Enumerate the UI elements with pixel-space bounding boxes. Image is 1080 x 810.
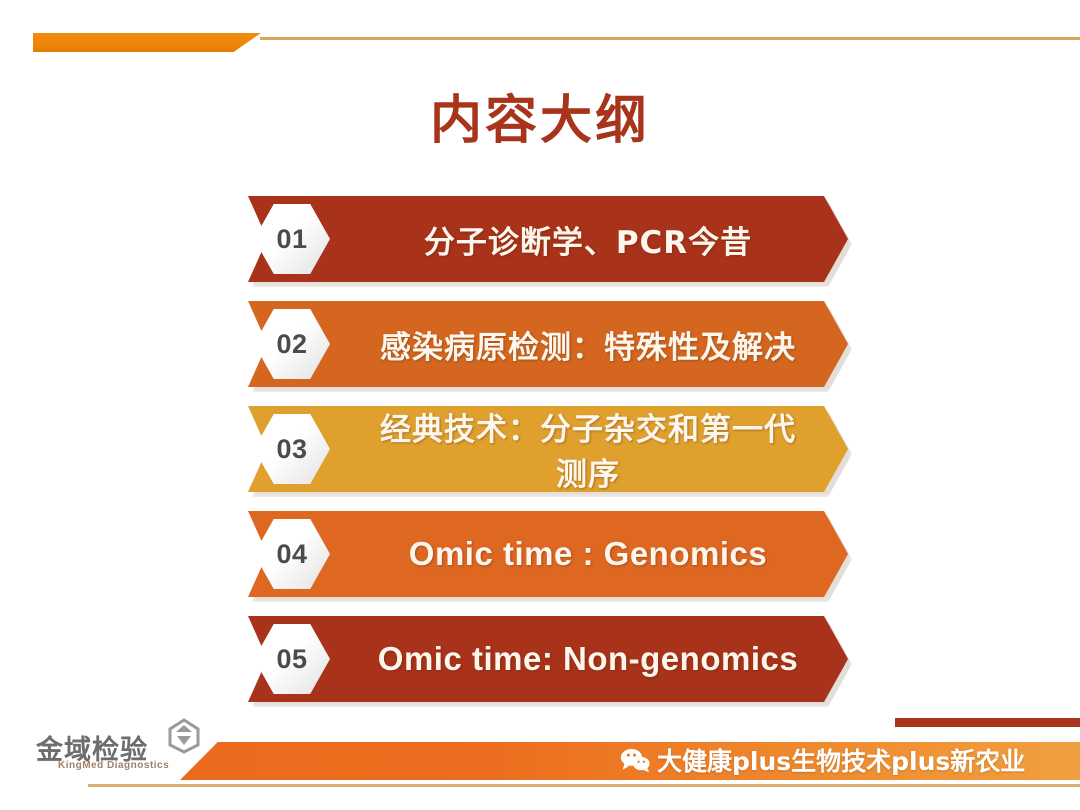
agenda-number: 04 <box>276 539 307 570</box>
watermark-text: 大健康plus生物技术plus新农业 <box>657 742 1025 778</box>
agenda-item-03[interactable]: 经典技术：分子杂交和第一代测序 03 <box>0 406 1080 492</box>
top-decoration <box>0 0 1080 60</box>
footer-underline <box>88 784 1080 787</box>
footer-corner-accent <box>895 718 1080 727</box>
agenda-number: 02 <box>276 329 307 360</box>
agenda-item-04[interactable]: Omic time : Genomics 04 <box>0 511 1080 597</box>
agenda-item-label: 分子诊断学、PCR今昔 <box>368 217 808 262</box>
agenda-item-01[interactable]: 分子诊断学、PCR今昔 01 <box>0 196 1080 282</box>
page-title: 内容大纲 <box>0 78 1080 153</box>
agenda-banner[interactable]: Omic time : Genomics <box>248 511 848 597</box>
agenda-number: 05 <box>276 644 307 675</box>
agenda-banner[interactable]: 经典技术：分子杂交和第一代测序 <box>248 406 848 492</box>
agenda-item-label: Omic time: Non-genomics <box>368 640 808 678</box>
agenda-item-label: Omic time : Genomics <box>368 535 808 573</box>
agenda-list: 分子诊断学、PCR今昔 01 感染病原检测：特殊性及解决 02 经典技术：分子杂… <box>0 196 1080 721</box>
wechat-icon <box>620 747 650 773</box>
agenda-banner[interactable]: 分子诊断学、PCR今昔 <box>248 196 848 282</box>
logo-english-name: KingMed Diagnostics <box>58 760 169 771</box>
agenda-number: 01 <box>276 224 307 255</box>
agenda-item-02[interactable]: 感染病原检测：特殊性及解决 02 <box>0 301 1080 387</box>
hexagon-logo-icon <box>166 718 202 754</box>
agenda-item-label: 经典技术：分子杂交和第一代测序 <box>368 404 808 494</box>
top-divider-line <box>260 37 1080 40</box>
agenda-number: 03 <box>276 434 307 465</box>
agenda-banner[interactable]: Omic time: Non-genomics <box>248 616 848 702</box>
agenda-item-label: 感染病原检测：特殊性及解决 <box>368 322 808 367</box>
agenda-item-05[interactable]: Omic time: Non-genomics 05 <box>0 616 1080 702</box>
wechat-watermark: 大健康plus生物技术plus新农业 <box>620 742 1025 778</box>
kingmed-logo: 金域检验 KingMed Diagnostics <box>36 716 206 778</box>
top-orange-bar <box>33 33 261 52</box>
agenda-banner[interactable]: 感染病原检测：特殊性及解决 <box>248 301 848 387</box>
